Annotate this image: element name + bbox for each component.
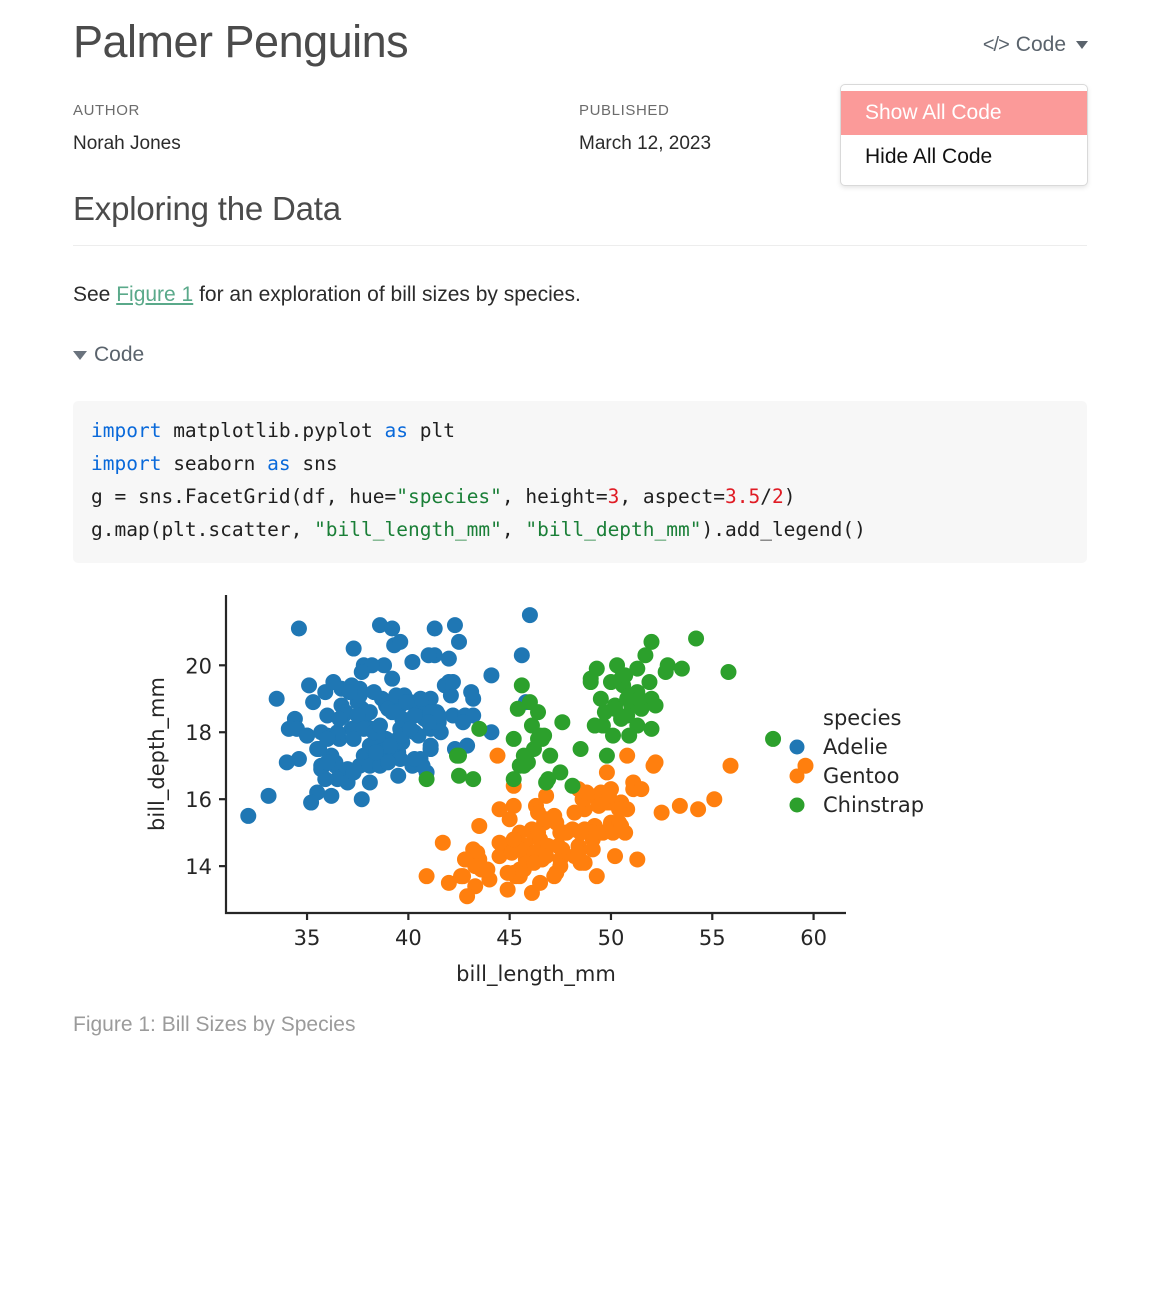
- data-point: [354, 791, 370, 807]
- data-point: [240, 808, 256, 824]
- data-point: [471, 818, 487, 834]
- y-tick-label: 18: [185, 721, 212, 745]
- data-point: [319, 731, 335, 747]
- data-point: [621, 728, 637, 744]
- data-point: [419, 771, 435, 787]
- x-tick-label: 45: [496, 926, 523, 950]
- data-point: [601, 788, 617, 804]
- metadata-author: AUTHOR Norah Jones: [73, 100, 181, 157]
- x-tick-label: 50: [598, 926, 625, 950]
- data-point: [301, 677, 317, 693]
- data-point: [554, 714, 570, 730]
- data-point: [522, 607, 538, 623]
- data-point: [654, 805, 670, 821]
- x-tick-label: 60: [800, 926, 827, 950]
- data-point: [599, 748, 615, 764]
- data-point: [660, 657, 676, 673]
- data-point: [346, 764, 362, 780]
- data-point: [479, 861, 495, 877]
- data-point: [325, 674, 341, 690]
- data-point: [372, 718, 388, 734]
- legend-label: Gentoo: [823, 764, 899, 788]
- data-point: [305, 694, 321, 710]
- data-point: [384, 620, 400, 636]
- code-fold-label: Code: [94, 343, 144, 367]
- code-fold-toggle[interactable]: Code: [73, 343, 144, 367]
- data-point: [690, 801, 706, 817]
- data-point: [530, 805, 546, 821]
- data-point: [413, 691, 429, 707]
- data-point: [459, 888, 475, 904]
- section-heading: Exploring the Data: [73, 190, 341, 228]
- data-point: [613, 818, 629, 834]
- legend-marker: [790, 798, 805, 813]
- data-point: [362, 774, 378, 790]
- data-point: [421, 647, 437, 663]
- data-point: [490, 748, 506, 764]
- data-point: [643, 634, 659, 650]
- data-point: [542, 748, 558, 764]
- data-point: [451, 768, 467, 784]
- data-point: [566, 805, 582, 821]
- data-point: [706, 791, 722, 807]
- data-point: [506, 771, 522, 787]
- legend-label: Adelie: [823, 735, 888, 759]
- legend-title: species: [823, 706, 901, 730]
- data-point: [589, 868, 605, 884]
- data-point: [492, 835, 508, 851]
- paragraph-text-before: See: [73, 283, 116, 306]
- section-divider: [73, 245, 1087, 246]
- data-point: [384, 671, 400, 687]
- data-point: [648, 697, 664, 713]
- data-point: [530, 825, 546, 841]
- author-value: Norah Jones: [73, 131, 181, 158]
- data-point: [506, 831, 522, 847]
- menu-item-hide-all-code[interactable]: Hide All Code: [841, 135, 1087, 179]
- data-point: [546, 808, 562, 824]
- code-brackets-icon: </>: [983, 34, 1009, 57]
- data-point: [514, 647, 530, 663]
- data-point: [723, 758, 739, 774]
- data-point: [406, 751, 422, 767]
- body-paragraph: See Figure 1 for an exploration of bill …: [73, 279, 581, 311]
- triangle-down-icon: [73, 351, 87, 360]
- x-tick-label: 40: [395, 926, 422, 950]
- x-axis-label: bill_length_mm: [456, 962, 616, 987]
- data-point: [500, 865, 516, 881]
- scatter-plot-svg: 35404550556014161820bill_length_mmbill_d…: [73, 580, 1087, 990]
- data-point: [465, 771, 481, 787]
- metadata-published: PUBLISHED March 12, 2023: [579, 100, 711, 157]
- data-point: [564, 778, 580, 794]
- data-point: [595, 718, 611, 734]
- chevron-down-icon: [1076, 41, 1088, 49]
- scatter-plot: 35404550556014161820bill_length_mmbill_d…: [73, 580, 1087, 990]
- data-point: [451, 634, 467, 650]
- author-label: AUTHOR: [73, 100, 181, 123]
- data-point: [641, 674, 657, 690]
- data-point: [506, 731, 522, 747]
- data-point: [390, 768, 406, 784]
- code-menu-button[interactable]: </> Code: [983, 33, 1088, 57]
- data-point: [617, 667, 633, 683]
- data-point: [447, 617, 463, 633]
- data-point: [589, 661, 605, 677]
- figure-caption: Figure 1: Bill Sizes by Species: [73, 1013, 355, 1037]
- data-point: [579, 784, 595, 800]
- data-point: [585, 841, 601, 857]
- data-point: [279, 754, 295, 770]
- paragraph-text-after: for an exploration of bill sizes by spec…: [193, 283, 581, 306]
- data-point: [269, 691, 285, 707]
- data-point: [607, 701, 623, 717]
- data-point: [354, 664, 370, 680]
- data-point: [384, 704, 400, 720]
- x-tick-label: 35: [294, 926, 321, 950]
- published-value: March 12, 2023: [579, 131, 711, 158]
- figure-1-link[interactable]: Figure 1: [116, 283, 193, 306]
- data-point: [404, 654, 420, 670]
- figure-1: 35404550556014161820bill_length_mmbill_d…: [73, 580, 1087, 990]
- data-point: [346, 641, 362, 657]
- data-point: [443, 687, 459, 703]
- code-line: g = sns.FacetGrid(df, hue="species", hei…: [91, 481, 1069, 514]
- data-point: [674, 661, 690, 677]
- data-point: [463, 684, 479, 700]
- data-point: [291, 620, 307, 636]
- data-point: [492, 801, 508, 817]
- data-point: [633, 781, 649, 797]
- code-dropdown-menu[interactable]: Show All Code Hide All Code: [840, 84, 1088, 186]
- data-point: [500, 882, 516, 898]
- data-point: [445, 674, 461, 690]
- data-point: [648, 754, 664, 770]
- legend-marker: [790, 740, 805, 755]
- data-point: [538, 774, 554, 790]
- data-point: [765, 731, 781, 747]
- data-point: [530, 704, 546, 720]
- data-point: [573, 741, 589, 757]
- code-line: import matplotlib.pyplot as plt: [91, 415, 1069, 448]
- data-point: [720, 664, 736, 680]
- y-tick-label: 16: [185, 788, 212, 812]
- data-point: [546, 868, 562, 884]
- data-point: [455, 714, 471, 730]
- code-line: import seaborn as sns: [91, 448, 1069, 481]
- data-point: [303, 795, 319, 811]
- data-point: [427, 620, 443, 636]
- data-point: [619, 748, 635, 764]
- data-point: [402, 721, 418, 737]
- data-point: [451, 748, 467, 764]
- data-point: [483, 667, 499, 683]
- data-point: [398, 694, 414, 710]
- page-title: Palmer Penguins: [73, 17, 408, 67]
- data-point: [323, 788, 339, 804]
- data-point: [607, 848, 623, 864]
- y-axis-label: bill_depth_mm: [145, 677, 170, 831]
- data-point: [516, 758, 532, 774]
- data-point: [643, 721, 659, 737]
- code-menu-label: Code: [1016, 33, 1066, 57]
- data-point: [261, 788, 277, 804]
- y-tick-label: 20: [185, 654, 212, 678]
- data-point: [672, 798, 688, 814]
- data-point: [611, 801, 627, 817]
- data-point: [629, 851, 645, 867]
- legend-marker: [790, 769, 805, 784]
- data-point: [532, 875, 548, 891]
- document-page: Palmer Penguins AUTHOR Norah Jones PUBLI…: [0, 0, 1160, 1306]
- data-point: [382, 738, 398, 754]
- data-point: [441, 651, 457, 667]
- legend-label: Chinstrap: [823, 793, 924, 817]
- published-label: PUBLISHED: [579, 100, 711, 123]
- y-tick-label: 14: [185, 855, 212, 879]
- data-point: [421, 714, 437, 730]
- points-layer: [240, 607, 813, 904]
- code-line: g.map(plt.scatter, "bill_length_mm", "bi…: [91, 514, 1069, 547]
- menu-item-show-all-code[interactable]: Show All Code: [841, 91, 1087, 135]
- data-point: [599, 764, 615, 780]
- data-point: [571, 845, 587, 861]
- data-point: [342, 684, 358, 700]
- data-point: [319, 754, 335, 770]
- data-point: [392, 634, 408, 650]
- data-point: [419, 868, 435, 884]
- data-point: [366, 684, 382, 700]
- data-point: [368, 744, 384, 760]
- data-point: [331, 711, 347, 727]
- data-point: [514, 677, 530, 693]
- data-point: [299, 728, 315, 744]
- data-point: [573, 825, 589, 841]
- data-point: [471, 721, 487, 737]
- data-point: [435, 835, 451, 851]
- data-point: [457, 851, 473, 867]
- code-block[interactable]: import matplotlib.pyplot as pltimport se…: [73, 401, 1087, 563]
- data-point: [538, 848, 554, 864]
- x-tick-label: 55: [699, 926, 726, 950]
- data-point: [688, 631, 704, 647]
